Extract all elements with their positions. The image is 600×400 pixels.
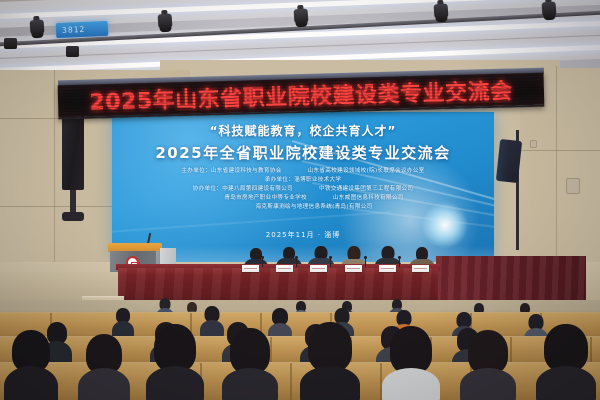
name-card (310, 265, 327, 272)
line-array-speaker (496, 139, 522, 183)
organizer-value-secondary: 山东威图信息科技有限公司 (333, 194, 404, 203)
speaker-stand (70, 190, 76, 214)
audience-member (78, 334, 130, 400)
organizer-row: 协办单位：中建八局第四建设有限公司 中铁交通建设集团第三工程有限公司 (112, 185, 494, 194)
ceiling-speaker (66, 46, 79, 57)
organizer-row: 海克斯康测绘与地理信息系统(青岛)有限公司 (112, 203, 494, 212)
audience-member (382, 326, 440, 400)
organizer-label: 承办单位： (265, 177, 294, 183)
audience-member (536, 324, 596, 400)
name-card (379, 265, 396, 272)
organizer-list: 主办单位：山东省建设科技与教育协会 山东省高校建设领域校(院)长联席会议办公室 … (112, 167, 494, 212)
microphone-icon (365, 258, 366, 267)
organizer-row: 青岛市房地产职业中等专业学校 山东威图信息科技有限公司 (112, 194, 494, 203)
microphone-icon (330, 258, 331, 267)
name-card (276, 265, 293, 272)
wall-panel-seam (54, 70, 55, 270)
organizer-row: 承办单位：淄博职业技术大学 (112, 176, 494, 185)
audience-member (4, 330, 58, 400)
organizer-row: 主办单位：山东省建设科技与教育协会 山东省高校建设领域校(院)长联席会议办公室 (112, 167, 494, 176)
organizer-value: 青岛市房地产职业中等专业学校 (224, 194, 307, 203)
wall-vent (566, 178, 580, 194)
stage-light-icon (539, 0, 558, 21)
name-card (242, 265, 259, 272)
ceiling-led-panel: 3812 (56, 21, 109, 38)
audience-member (460, 330, 516, 400)
microphone-icon (399, 258, 400, 267)
audience-member (146, 324, 204, 400)
wall-panel-seam (0, 206, 122, 207)
organizer-label: 协办单位： (193, 186, 222, 192)
audience-member (300, 322, 360, 400)
wall-panel-seam (556, 66, 557, 266)
organizer-value-secondary: 中铁交通建设集团第三工程有限公司 (319, 185, 413, 194)
stage-light-icon (155, 9, 174, 32)
name-card (412, 265, 429, 272)
ceiling-speaker (4, 38, 17, 49)
organizer-value: 中建八局第四建设有限公司 (222, 186, 293, 192)
name-card (345, 265, 362, 272)
microphone-icon (296, 258, 297, 267)
organizer-value-secondary: 山东省高校建设领域校(院)长联席会议办公室 (308, 167, 425, 176)
organizer-value: 海克斯康测绘与地理信息系统(青岛)有限公司 (256, 203, 373, 212)
stage-light-icon (291, 4, 310, 27)
screen-subtitle: 2025年全省职业院校建设类专业交流会 (112, 142, 494, 163)
wall-vent (530, 140, 537, 148)
ceiling-led-text: 3812 (62, 25, 86, 35)
organizer-value: 淄博职业技术大学 (294, 177, 341, 183)
stage-light-icon (27, 15, 46, 38)
microphone-icon (262, 258, 263, 267)
screen-slogan: “科技赋能教育，校企共育人才” (112, 122, 494, 139)
stage-light-icon (431, 0, 450, 23)
organizer-value: 山东省建设科技与教育协会 (211, 168, 282, 174)
presentation-screen: “科技赋能教育，校企共育人才” 2025年全省职业院校建设类专业交流会 主办单位… (112, 112, 494, 262)
organizer-label: 主办单位： (181, 168, 210, 174)
conference-hall-photo: 3812 “科技赋能教育，校企共育人才” 2025年全省职业院校建设 (0, 0, 600, 400)
screen-date-line: 2025年11月 · 淄博 (112, 230, 494, 240)
audience-member (222, 328, 278, 400)
speaker-base (62, 212, 84, 221)
